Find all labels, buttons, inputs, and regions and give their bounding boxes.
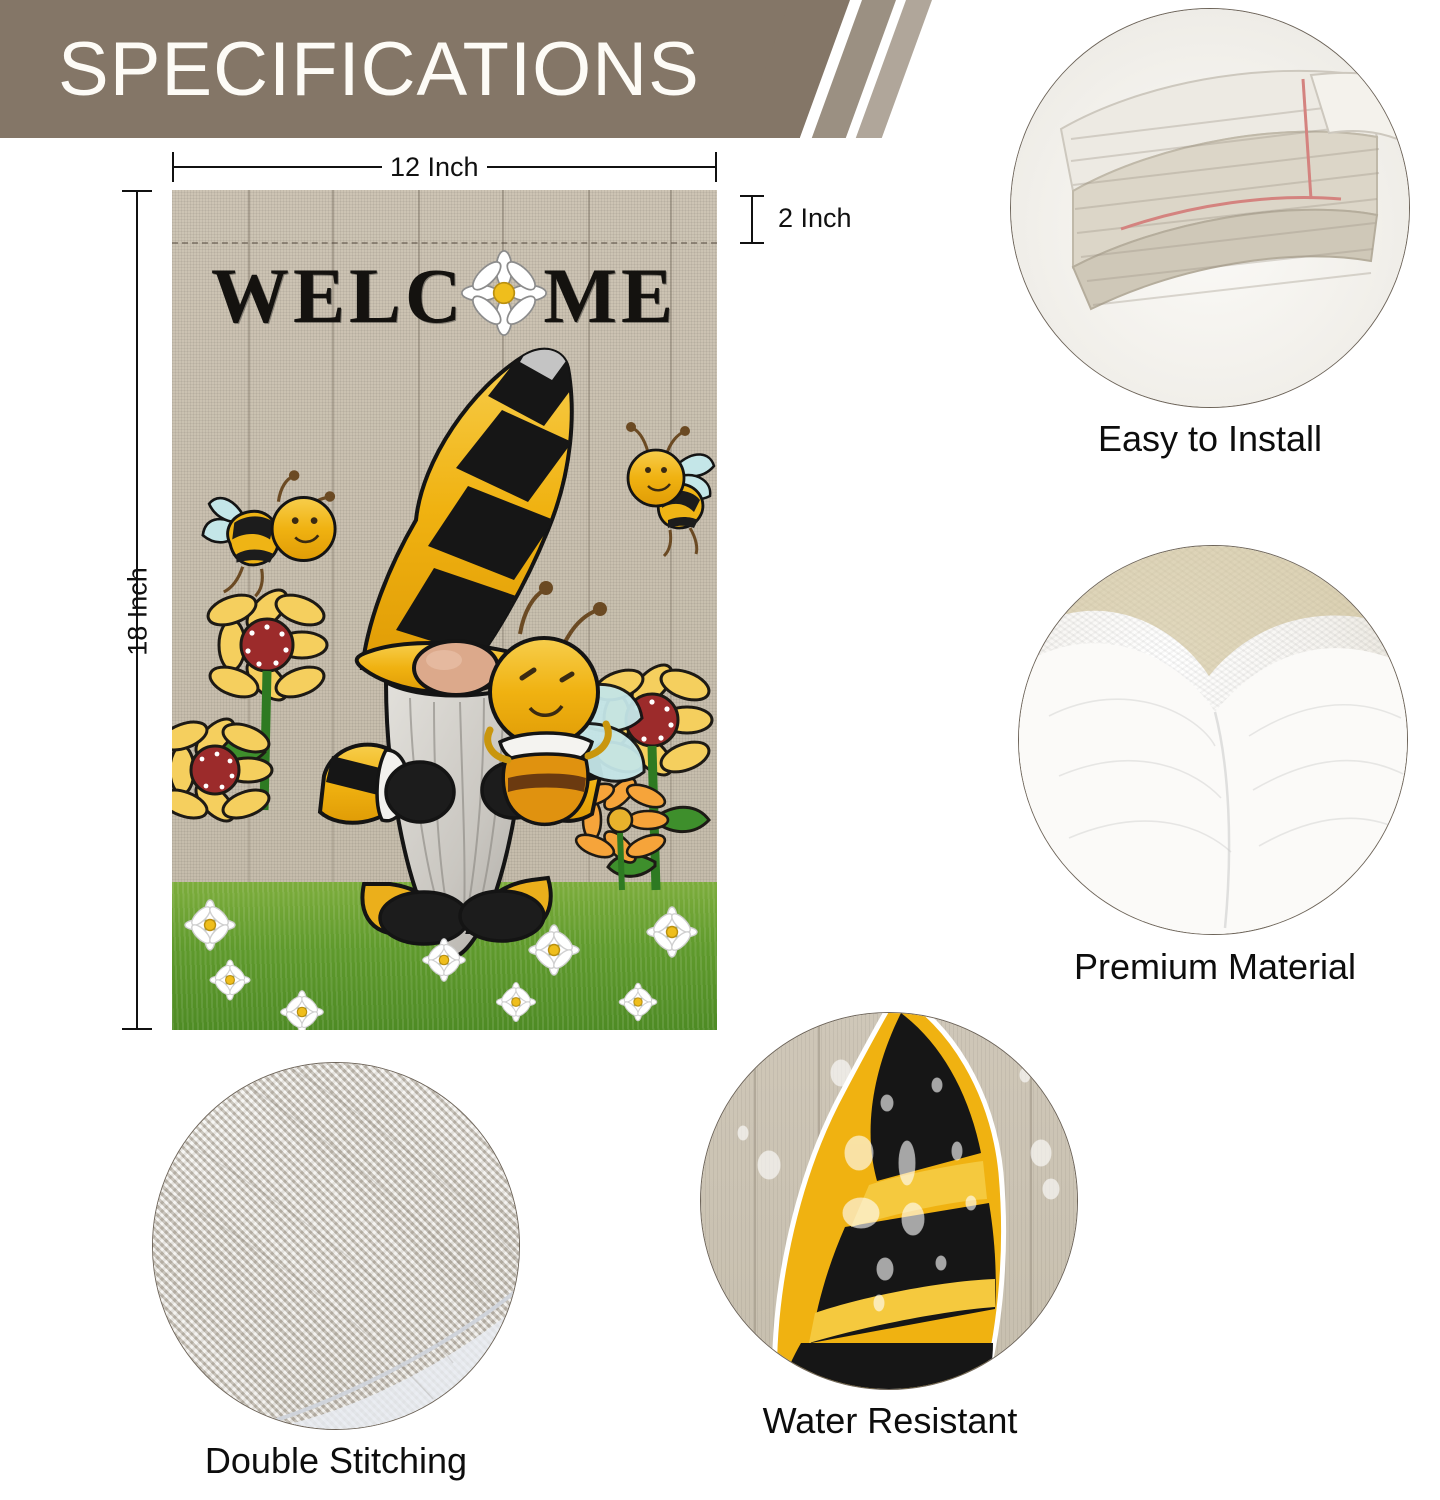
sleeve-tick-bottom <box>740 242 764 244</box>
small-bee-right <box>626 422 714 556</box>
width-tick-left <box>172 152 174 182</box>
double-stitching-label: Double Stitching <box>136 1440 536 1482</box>
water-resistant-label: Water Resistant <box>690 1400 1090 1442</box>
welcome-text-part1: WELC <box>211 257 465 335</box>
specifications-infographic: SPECIFICATIONS 12 Inch 18 Inch 2 Inch <box>0 0 1440 1500</box>
sleeve-dimension-line <box>751 196 753 244</box>
height-tick-bottom <box>122 1028 152 1030</box>
easy-to-install-image <box>1010 8 1410 408</box>
double-stitching-image <box>152 1062 520 1430</box>
height-dimension-label: 18 Inch <box>123 532 154 692</box>
premium-material-image <box>1018 545 1408 935</box>
garden-flag-image: WELC ME <box>172 190 717 1030</box>
big-bee-head <box>490 638 598 746</box>
page-title: SPECIFICATIONS <box>58 24 700 116</box>
sleeve-dimension-label: 2 Inch <box>770 203 860 234</box>
welcome-text: WELC ME <box>194 250 694 342</box>
easy-to-install-label: Easy to Install <box>1010 418 1410 460</box>
height-tick-top <box>122 190 152 192</box>
small-bee-left <box>203 470 335 596</box>
gnome-nose <box>414 641 498 695</box>
water-resistant-image <box>700 1012 1078 1390</box>
sleeve-tick-top <box>740 195 764 197</box>
width-tick-right <box>715 152 717 182</box>
width-dimension-label: 12 Inch <box>382 152 487 183</box>
daisy-flower-icon <box>461 250 547 336</box>
premium-material-label: Premium Material <box>1000 946 1430 988</box>
welcome-text-part2: ME <box>543 257 677 335</box>
sunflower-left-lower <box>172 713 273 828</box>
